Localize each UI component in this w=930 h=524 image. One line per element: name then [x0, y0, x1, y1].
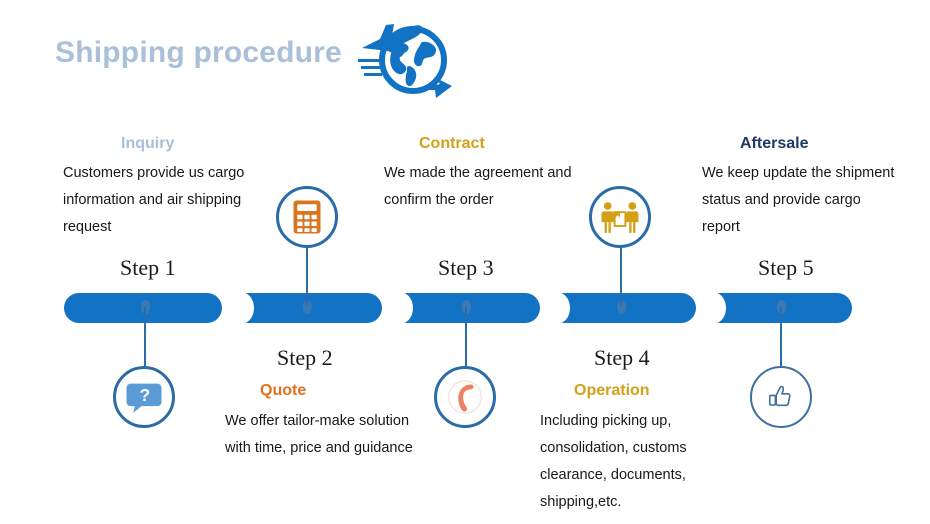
- thumbs-up-icon: [750, 366, 812, 428]
- step-label-2: Step 2: [277, 345, 333, 371]
- timeline-notch-4: [548, 293, 570, 323]
- connector-stem-5: [780, 306, 782, 366]
- step-label-3: Step 3: [438, 255, 494, 281]
- category-label-aftersale: Aftersale: [740, 135, 808, 153]
- category-label-operation: Operation: [574, 382, 650, 400]
- globe-airplane-logo: [350, 4, 460, 109]
- connector-stem-3: [465, 306, 467, 366]
- category-label-quote: Quote: [260, 382, 306, 400]
- infographic-canvas: Shipping procedure: [0, 0, 930, 524]
- step-label-5: Step 5: [758, 255, 814, 281]
- description-aftersale: We keep update the shipment status and p…: [702, 160, 902, 241]
- svg-text:?: ?: [139, 385, 150, 405]
- category-label-inquiry: Inquiry: [121, 135, 174, 153]
- connector-stem-4: [620, 245, 622, 305]
- page-title: Shipping procedure: [55, 36, 342, 70]
- connector-stem-1: [144, 306, 146, 366]
- connector-stem-2: [306, 245, 308, 305]
- category-label-contract: Contract: [419, 135, 485, 153]
- step-label-1: Step 1: [120, 255, 176, 281]
- speech-bubble-question-icon: ?: [113, 366, 175, 428]
- calculator-icon: [276, 186, 338, 248]
- workers-carrying-box-icon: [589, 186, 651, 248]
- description-operation: Including picking up, consolidation, cus…: [540, 408, 740, 516]
- timeline-notch-5: [704, 293, 726, 323]
- step-label-4: Step 4: [594, 345, 650, 371]
- timeline-notch-2: [232, 293, 254, 323]
- description-quote: We offer tailor-make solution with time,…: [225, 408, 415, 462]
- description-inquiry: Customers provide us cargo information a…: [63, 160, 263, 241]
- description-contract: We made the agreement and confirm the or…: [384, 160, 589, 214]
- timeline-notch-3: [391, 293, 413, 323]
- phone-handset-icon: [434, 366, 496, 428]
